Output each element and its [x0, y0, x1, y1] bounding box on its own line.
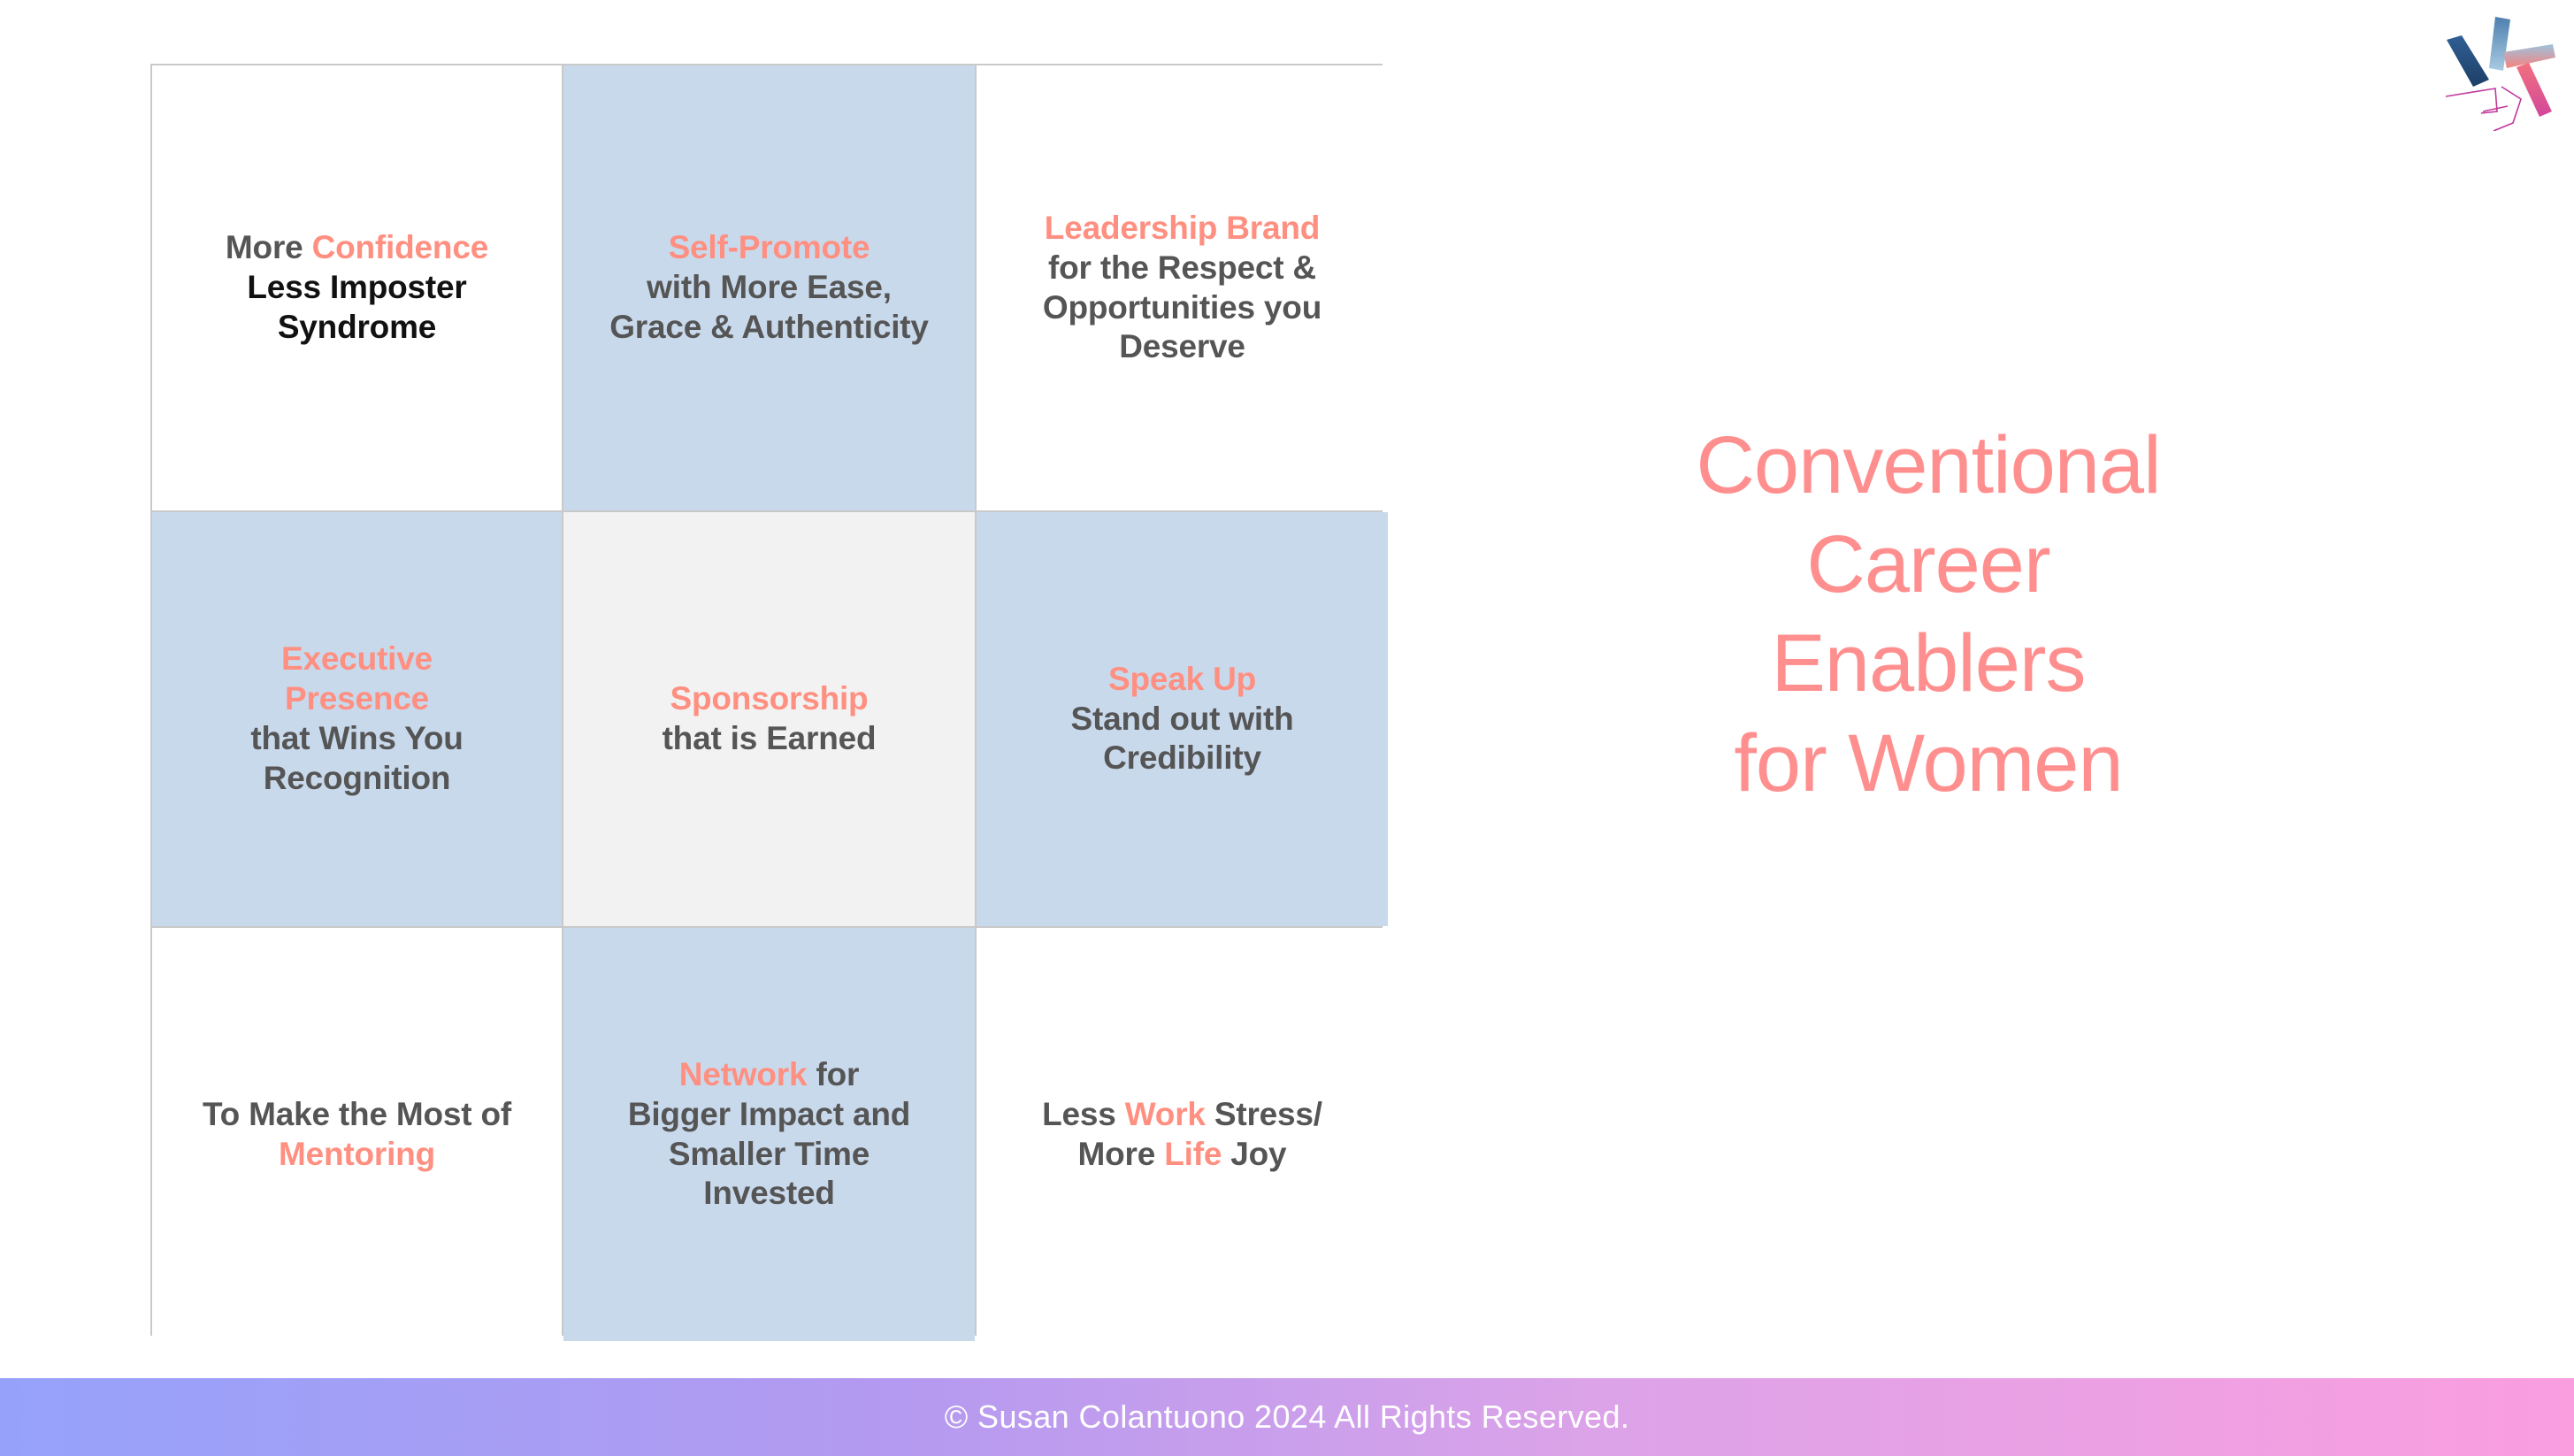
text-segment-plain: with More Ease,: [647, 269, 892, 305]
title-line: Career: [1530, 515, 2326, 614]
cell-line: Leadership Brand: [1043, 209, 1321, 249]
footer-bar: © Susan Colantuono 2024 All Rights Reser…: [0, 1378, 2574, 1456]
cell-line: Smaller Time: [628, 1135, 910, 1175]
cell-line: Grace & Authenticity: [609, 308, 929, 348]
text-segment-accent: Executive: [281, 640, 433, 677]
text-segment-plain: that Wins You: [250, 720, 463, 756]
text-segment-plain: Joy: [1222, 1136, 1286, 1172]
cell-line: that Wins You: [250, 719, 463, 759]
text-segment-accent: Life: [1164, 1136, 1222, 1172]
cell-text-work-life: Less Work Stress/More Life Joy: [1042, 1095, 1322, 1175]
cell-text-network: Network forBigger Impact andSmaller Time…: [628, 1055, 910, 1214]
cell-line: More Life Joy: [1042, 1135, 1322, 1175]
text-segment-plain: Smaller Time: [669, 1136, 869, 1172]
cell-line: Less Imposter: [226, 268, 488, 308]
text-segment-plain: Deserve: [1119, 328, 1245, 364]
page-title: Conventional Career Enablers for Women: [1530, 416, 2326, 813]
cell-line: Stand out with: [1070, 700, 1293, 739]
grid-cell-mentoring: To Make the Most ofMentoring: [152, 928, 562, 1341]
cell-line: Deserve: [1043, 327, 1321, 367]
text-segment-plain: Opportunities you: [1043, 289, 1321, 326]
cell-line: Syndrome: [226, 308, 488, 348]
cell-text-self-promote: Self-Promotewith More Ease,Grace & Authe…: [609, 228, 929, 347]
text-segment-plain: More: [226, 229, 312, 265]
abstract-star-logo: [2419, 7, 2570, 131]
grid-cell-self-promote: Self-Promotewith More Ease,Grace & Authe…: [563, 65, 975, 510]
text-segment-accent: Sponsorship: [670, 680, 869, 717]
title-line: Enablers: [1530, 614, 2326, 713]
text-segment-plain: for the Respect &: [1048, 249, 1316, 286]
text-segment-accent: Speak Up: [1108, 661, 1256, 697]
cell-line: Sponsorship: [663, 679, 877, 719]
copyright-text: © Susan Colantuono 2024 All Rights Reser…: [945, 1399, 1630, 1436]
text-segment-dark: Syndrome: [278, 309, 436, 345]
grid-cell-executive-presence: ExecutivePresencethat Wins YouRecognitio…: [152, 512, 562, 926]
text-segment-accent: Confidence: [312, 229, 488, 265]
cell-line: Network for: [628, 1055, 910, 1095]
cell-line: Opportunities you: [1043, 288, 1321, 328]
cell-line: Mentoring: [203, 1135, 511, 1175]
text-segment-plain: Recognition: [264, 760, 451, 796]
text-segment-plain: To Make the Most of: [203, 1096, 511, 1132]
cell-line: Less Work Stress/: [1042, 1095, 1322, 1135]
grid-cell-work-life: Less Work Stress/More Life Joy: [977, 928, 1388, 1341]
text-segment-plain: that is Earned: [663, 720, 877, 756]
text-segment-plain: More: [1078, 1136, 1165, 1172]
title-line: Conventional: [1530, 416, 2326, 515]
cell-line: Bigger Impact and: [628, 1095, 910, 1135]
cell-line: Self-Promote: [609, 228, 929, 268]
cell-text-executive-presence: ExecutivePresencethat Wins YouRecognitio…: [250, 640, 463, 798]
cell-line: with More Ease,: [609, 268, 929, 308]
grid-cell-speak-up: Speak UpStand out withCredibility: [977, 512, 1388, 926]
cell-text-confidence: More ConfidenceLess ImposterSyndrome: [226, 228, 488, 347]
text-segment-accent: Mentoring: [279, 1136, 435, 1172]
cell-line: More Confidence: [226, 228, 488, 268]
text-segment-accent: Work: [1125, 1096, 1206, 1132]
cell-line: Invested: [628, 1174, 910, 1214]
enablers-grid: More ConfidenceLess ImposterSyndromeSelf…: [150, 64, 1383, 1336]
text-segment-plain: Stress/: [1206, 1096, 1322, 1132]
brand-logo: [2419, 7, 2570, 131]
cell-text-mentoring: To Make the Most ofMentoring: [203, 1095, 511, 1175]
text-segment-plain: for: [807, 1056, 859, 1092]
cell-text-leadership-brand: Leadership Brandfor the Respect &Opportu…: [1043, 209, 1321, 367]
text-segment-plain: Grace & Authenticity: [609, 309, 929, 345]
cell-line: Presence: [250, 679, 463, 719]
grid-cell-network: Network forBigger Impact andSmaller Time…: [563, 928, 975, 1341]
text-segment-plain: Bigger Impact and: [628, 1096, 910, 1132]
cell-text-sponsorship: Sponsorshipthat is Earned: [663, 679, 877, 759]
grid-cell-sponsorship: Sponsorshipthat is Earned: [563, 512, 975, 926]
text-segment-plain: Credibility: [1103, 739, 1261, 776]
cell-line: To Make the Most of: [203, 1095, 511, 1135]
cell-line: Executive: [250, 640, 463, 679]
text-segment-dark: Less Imposter: [247, 269, 466, 305]
text-segment-accent: Network: [679, 1056, 808, 1092]
cell-line: for the Respect &: [1043, 249, 1321, 288]
grid-cell-leadership-brand: Leadership Brandfor the Respect &Opportu…: [977, 65, 1388, 510]
title-line: for Women: [1530, 714, 2326, 813]
text-segment-plain: Stand out with: [1070, 701, 1293, 737]
text-segment-accent: Presence: [285, 680, 429, 717]
grid-cell-confidence: More ConfidenceLess ImposterSyndrome: [152, 65, 562, 510]
cell-text-speak-up: Speak UpStand out withCredibility: [1070, 660, 1293, 778]
cell-line: Credibility: [1070, 739, 1293, 778]
cell-line: Speak Up: [1070, 660, 1293, 700]
text-segment-plain: Invested: [703, 1175, 835, 1211]
cell-line: Recognition: [250, 759, 463, 799]
cell-line: that is Earned: [663, 719, 877, 759]
text-segment-plain: Less: [1042, 1096, 1125, 1132]
text-segment-accent: Self-Promote: [669, 229, 870, 265]
text-segment-accent: Leadership Brand: [1045, 210, 1320, 246]
